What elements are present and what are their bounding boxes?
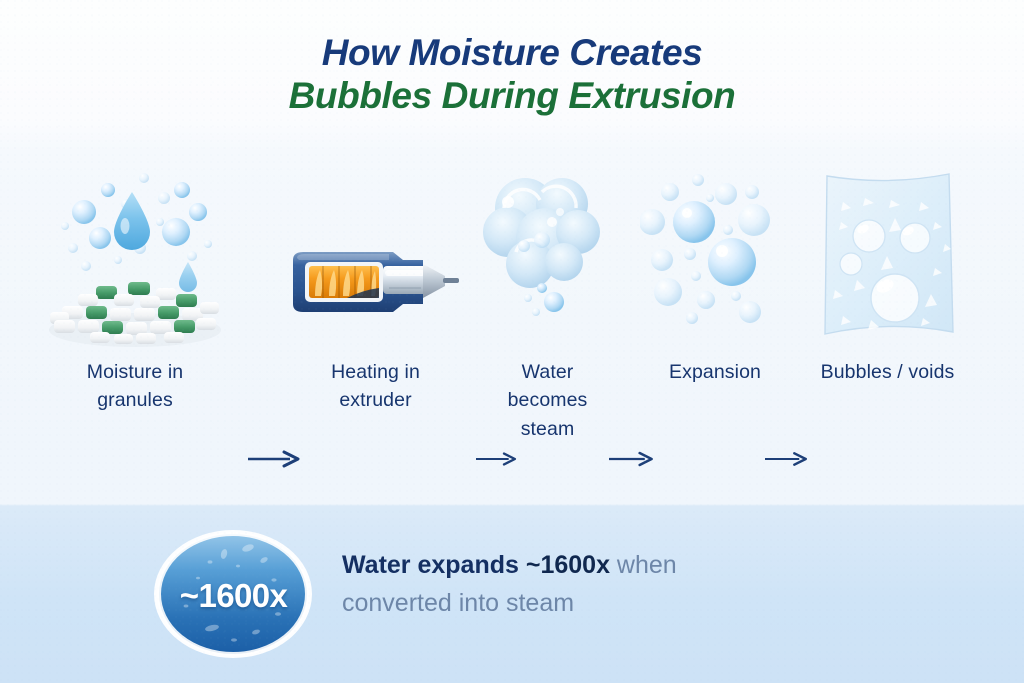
extruder-art [283, 160, 468, 350]
flow-arrow-2-icon [476, 450, 518, 468]
flow-arrow-4-icon [765, 450, 809, 468]
page-title: How Moisture Creates Bubbles During Extr… [0, 32, 1024, 118]
expansion-art [640, 160, 790, 350]
banner-text-part1: Water expands [342, 551, 526, 579]
expanding-bubbles-icon [640, 160, 790, 350]
water-droplets-over-pellet-pile-icon [40, 160, 230, 350]
infographic-canvas: How Moisture Creates Bubbles During Extr… [0, 0, 1024, 683]
label-line: Moisture in [40, 358, 230, 386]
expansion-ratio-badge[interactable]: ~1600x [152, 528, 315, 661]
extruded-sheet-with-voids-icon [795, 160, 980, 350]
title-line-2: Bubbles During Extrusion [0, 75, 1024, 118]
stage-water-becomes-steam[interactable]: Water becomes steam [480, 160, 615, 443]
banner-text-part2: when [610, 551, 677, 579]
pellet-pile [49, 282, 221, 347]
stage-label-heating-in-extruder: Heating in extruder [283, 358, 468, 415]
label-line: becomes [480, 386, 615, 414]
badge-value: ~1600x [152, 528, 315, 661]
stage-label-bubbles-voids: Bubbles / voids [795, 358, 980, 386]
flow-arrow-3-icon [609, 450, 655, 468]
stage-moisture-in-granules[interactable]: Moisture in granules [40, 160, 230, 415]
label-line: granules [40, 386, 230, 414]
banner-line-2: converted into steam [342, 584, 982, 622]
moisture-granules-art [40, 160, 230, 350]
title-line-1: How Moisture Creates [0, 32, 1024, 75]
label-line: Heating in [283, 358, 468, 386]
stage-expansion[interactable]: Expansion [640, 160, 790, 386]
label-line: Expansion [640, 358, 790, 386]
stage-label-water-becomes-steam: Water becomes steam [480, 358, 615, 443]
stage-heating-in-extruder[interactable]: Heating in extruder [283, 160, 468, 415]
label-line: steam [480, 415, 615, 443]
label-line: Bubbles / voids [795, 358, 980, 386]
banner-text-emphasis: ~1600x [526, 551, 610, 579]
process-pipeline: Moisture in granules [0, 160, 1024, 490]
label-line: extruder [283, 386, 468, 414]
flow-arrow-1-icon [248, 450, 302, 468]
banner-copy: Water expands ~1600x when converted into… [342, 546, 982, 622]
bubbles-voids-art [795, 160, 980, 350]
stage-label-expansion: Expansion [640, 358, 790, 386]
stage-bubbles-voids[interactable]: Bubbles / voids [795, 160, 980, 386]
steam-cloud-icon [480, 160, 615, 350]
expansion-fact-banner: ~1600x Water expands ~1600x when convert… [0, 506, 1024, 683]
banner-line-1: Water expands ~1600x when [342, 546, 982, 584]
stage-label-moisture-in-granules: Moisture in granules [40, 358, 230, 415]
label-line: Water [480, 358, 615, 386]
extruder-machine-icon [283, 160, 468, 350]
steam-cloud-art [480, 160, 615, 350]
